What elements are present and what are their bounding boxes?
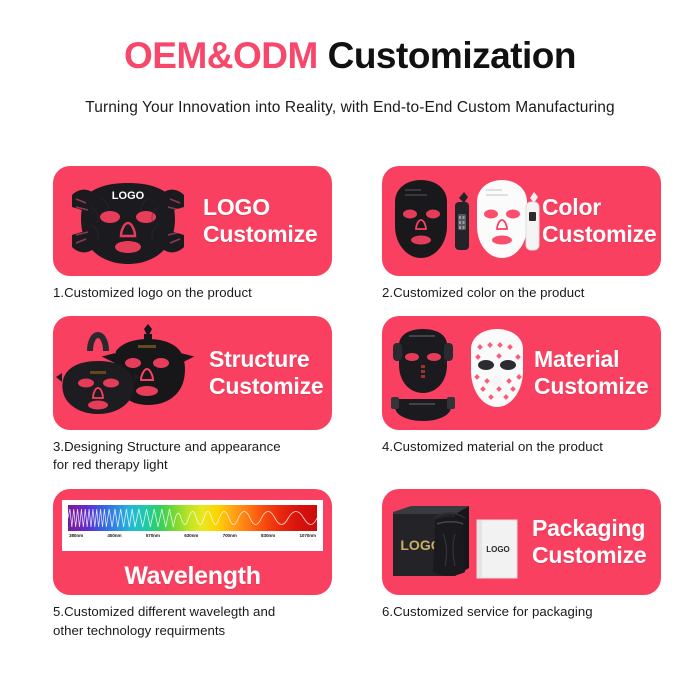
mask-white-icon	[477, 180, 527, 258]
card-packaging-title-line2: Customize	[532, 542, 661, 569]
card-packaging-title-line1: Packaging	[532, 515, 645, 541]
tick-label: 450nm	[107, 533, 121, 538]
page-title: OEM&ODM Customization	[0, 36, 700, 77]
card-logo-title: LOGO Customize	[203, 194, 332, 248]
neck-strap-icon	[391, 397, 455, 421]
card-wavelength-title: Wavelength Customize	[62, 562, 323, 595]
card-material-customize[interactable]: Material Customize	[382, 316, 661, 430]
oem-odm-customization-page: OEM&ODM Customization Turning Your Innov…	[0, 0, 700, 700]
mask-white-lattice-icon	[471, 329, 523, 407]
controller-black-icon	[455, 192, 469, 250]
pouch-black-icon	[433, 513, 465, 576]
card-material-caption: 4.Customized material on the product	[382, 438, 661, 457]
card-wavelength-caption: 5.Customized different wavelegth and oth…	[53, 603, 332, 640]
card-logo-customize[interactable]: LOGO LOGO Customize	[53, 166, 332, 276]
card-structure-caption-line1: 3.Designing Structure and appearance	[53, 439, 281, 454]
led-mask-black-icon: LOGO	[58, 173, 198, 269]
card-logo-title-line2: Customize	[203, 221, 332, 248]
tick-label: 380nm	[69, 533, 83, 538]
feature-cell-color: Color Customize 2.Customized color on th…	[382, 166, 661, 303]
card-structure-title-line1: Structure	[209, 346, 309, 372]
card-packaging-artwork: LOGO LOGO	[382, 489, 532, 595]
card-color-customize[interactable]: Color Customize	[382, 166, 661, 276]
page-title-plain: Customization	[328, 35, 576, 76]
card-material-artwork	[382, 316, 534, 430]
packaging-set-icon: LOGO LOGO	[385, 494, 529, 590]
card-logo-artwork: LOGO	[53, 166, 203, 276]
card-color-artwork	[382, 166, 542, 276]
feature-cell-wavelength: 380nm 450nm 570nm 630nm 700nm 830nm 1070…	[53, 489, 332, 640]
spectrum-gradient-bar	[68, 505, 317, 531]
card-structure-title: Structure Customize	[209, 346, 332, 400]
product-box-logo-label: LOGO	[486, 545, 510, 554]
card-structure-title-line2: Customize	[209, 373, 332, 400]
feature-cell-packaging: LOGO LOGO	[382, 489, 661, 640]
masks-black-white-pair-icon	[385, 172, 540, 270]
masks-structure-pair-icon	[56, 321, 206, 425]
card-structure-caption: 3.Designing Structure and appearance for…	[53, 438, 332, 475]
card-color-title-line1: Color	[542, 194, 601, 220]
product-box-white-icon: LOGO	[477, 520, 517, 578]
card-wavelength-customize[interactable]: 380nm 450nm 570nm 630nm 700nm 830nm 1070…	[53, 489, 332, 595]
controller-white-icon	[526, 192, 539, 250]
card-logo-title-line1: LOGO	[203, 194, 270, 220]
mask-logo-label: LOGO	[112, 190, 145, 202]
card-color-title: Color Customize	[542, 194, 661, 248]
mask-black-icon	[395, 180, 447, 258]
spectrum-chart: 380nm 450nm 570nm 630nm 700nm 830nm 1070…	[62, 500, 323, 551]
card-structure-artwork	[53, 316, 209, 430]
feature-cell-material: Material Customize 4.Customized material…	[382, 316, 661, 475]
page-title-accent: OEM&ODM	[124, 35, 318, 76]
mask-material-pair-icon	[385, 323, 531, 423]
feature-cell-structure: Structure Customize 3.Designing Structur…	[53, 316, 332, 475]
card-packaging-customize[interactable]: LOGO LOGO	[382, 489, 661, 595]
card-color-title-line2: Customize	[542, 221, 661, 248]
card-color-caption: 2.Customized color on the product	[382, 284, 661, 303]
tick-label: 1070nm	[299, 533, 316, 538]
card-wavelength-caption-line2: other technology requirments	[53, 623, 225, 638]
tick-label: 830nm	[261, 533, 275, 538]
card-packaging-title: Packaging Customize	[532, 515, 661, 569]
tick-label: 700nm	[223, 533, 237, 538]
page-header: OEM&ODM Customization Turning Your Innov…	[0, 0, 700, 117]
spectrum-tick-labels: 380nm 450nm 570nm 630nm 700nm 830nm 1070…	[68, 531, 317, 538]
card-material-title-line1: Material	[534, 346, 619, 372]
feature-cell-logo: LOGO LOGO Customize 1.Customized logo on…	[53, 166, 332, 303]
card-material-title: Material Customize	[534, 346, 661, 400]
card-packaging-caption: 6.Customized service for packaging	[382, 603, 661, 622]
card-logo-caption: 1.Customized logo on the product	[53, 284, 332, 303]
card-structure-caption-line2: for red therapy light	[53, 457, 168, 472]
mask-black-material-icon	[393, 329, 453, 393]
spectrum-waveform	[68, 505, 317, 531]
page-subtitle: Turning Your Innovation into Reality, wi…	[0, 99, 700, 117]
card-material-title-line2: Customize	[534, 373, 661, 400]
feature-card-grid: LOGO LOGO Customize 1.Customized logo on…	[53, 166, 661, 641]
tick-label: 630nm	[184, 533, 198, 538]
tick-label: 570nm	[146, 533, 160, 538]
card-structure-customize[interactable]: Structure Customize	[53, 316, 332, 430]
card-wavelength-caption-line1: 5.Customized different wavelegth and	[53, 604, 275, 619]
